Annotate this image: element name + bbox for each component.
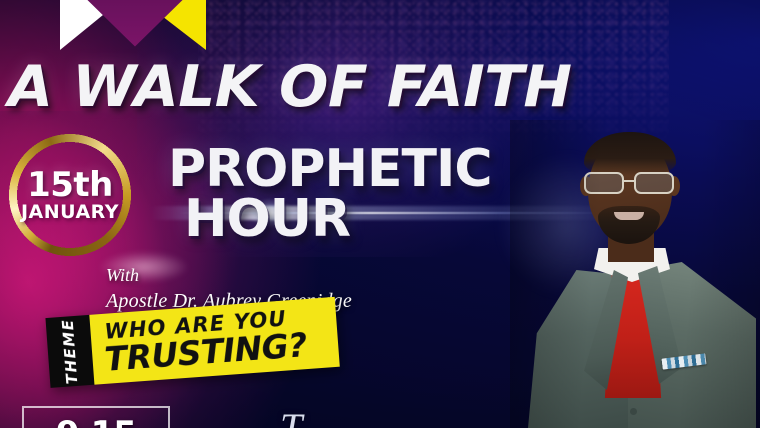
theme-tab: THEME: [45, 315, 94, 388]
time-box: 9.15: [22, 406, 170, 428]
date-badge: 15th JANUARY: [8, 133, 132, 257]
speaker-glasses-icon: [582, 172, 678, 194]
glasses-lens-right: [634, 172, 674, 194]
event-subtitle: PROPHETIC HOUR: [168, 145, 492, 245]
speaker-jacket-button: [630, 408, 637, 415]
event-flyer: Walk of Faith A WALK OF FAITH PROPHETIC …: [0, 0, 760, 428]
speaker-photo: [510, 120, 760, 428]
date-badge-content: 15th JANUARY: [8, 133, 132, 257]
date-day: 15th: [27, 168, 113, 202]
event-time: 9.15: [56, 414, 136, 428]
script-accent-text: T: [280, 404, 303, 428]
top-ribbon: Walk of Faith: [60, 0, 206, 50]
speaker-mouth: [614, 212, 644, 220]
theme-tab-label: THEME: [59, 318, 82, 385]
event-subtitle-line2: HOUR: [184, 195, 492, 245]
date-month: JANUARY: [21, 203, 119, 222]
with-label: With: [106, 265, 139, 286]
page-title: A WALK OF FAITH: [8, 61, 572, 113]
glasses-lens-left: [584, 172, 624, 194]
